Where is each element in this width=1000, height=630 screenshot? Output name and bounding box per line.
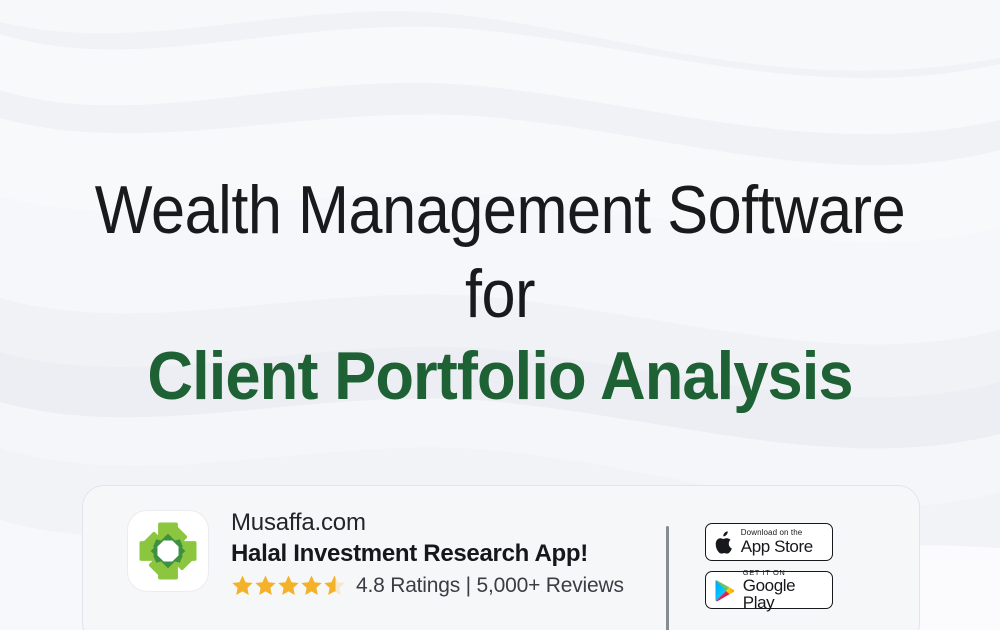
headline-accent-line: Client Portfolio Analysis (35, 342, 965, 410)
google-play-badge[interactable]: GET IT ON Google Play (705, 571, 833, 609)
store-badges-group: Download on the App Store (705, 523, 833, 609)
brand-name: Musaffa.com (231, 508, 624, 537)
star-rating-icon (231, 574, 349, 597)
app-store-badge-labels: Download on the App Store (741, 529, 813, 555)
app-store-badge-top-label: Download on the (741, 529, 813, 537)
google-play-badge-top-label: GET IT ON (743, 569, 823, 577)
google-play-icon (715, 579, 736, 602)
app-store-badge[interactable]: Download on the App Store (705, 523, 833, 561)
rating-row: 4.8 Ratings | 5,000+ Reviews (231, 574, 624, 597)
headline-line-1: Wealth Management Software (50, 176, 950, 244)
musaffa-rosette-logo-icon (137, 520, 199, 582)
headline-line-2: for (50, 260, 950, 328)
app-promo-card: Musaffa.com Halal Investment Research Ap… (82, 485, 920, 630)
card-divider (666, 526, 669, 630)
promo-card-brand-section: Musaffa.com Halal Investment Research Ap… (83, 508, 624, 597)
google-play-badge-main-label: Google Play (743, 577, 823, 611)
google-play-badge-labels: GET IT ON Google Play (743, 569, 823, 612)
brand-text-block: Musaffa.com Halal Investment Research Ap… (231, 508, 624, 597)
brand-tagline: Halal Investment Research App! (231, 539, 624, 569)
app-store-badge-main-label: App Store (741, 538, 813, 555)
app-icon-tile (127, 510, 209, 592)
apple-icon (715, 531, 734, 554)
rating-text: 4.8 Ratings | 5,000+ Reviews (356, 575, 624, 596)
hero-headline: Wealth Management Software for Client Po… (0, 176, 1000, 410)
